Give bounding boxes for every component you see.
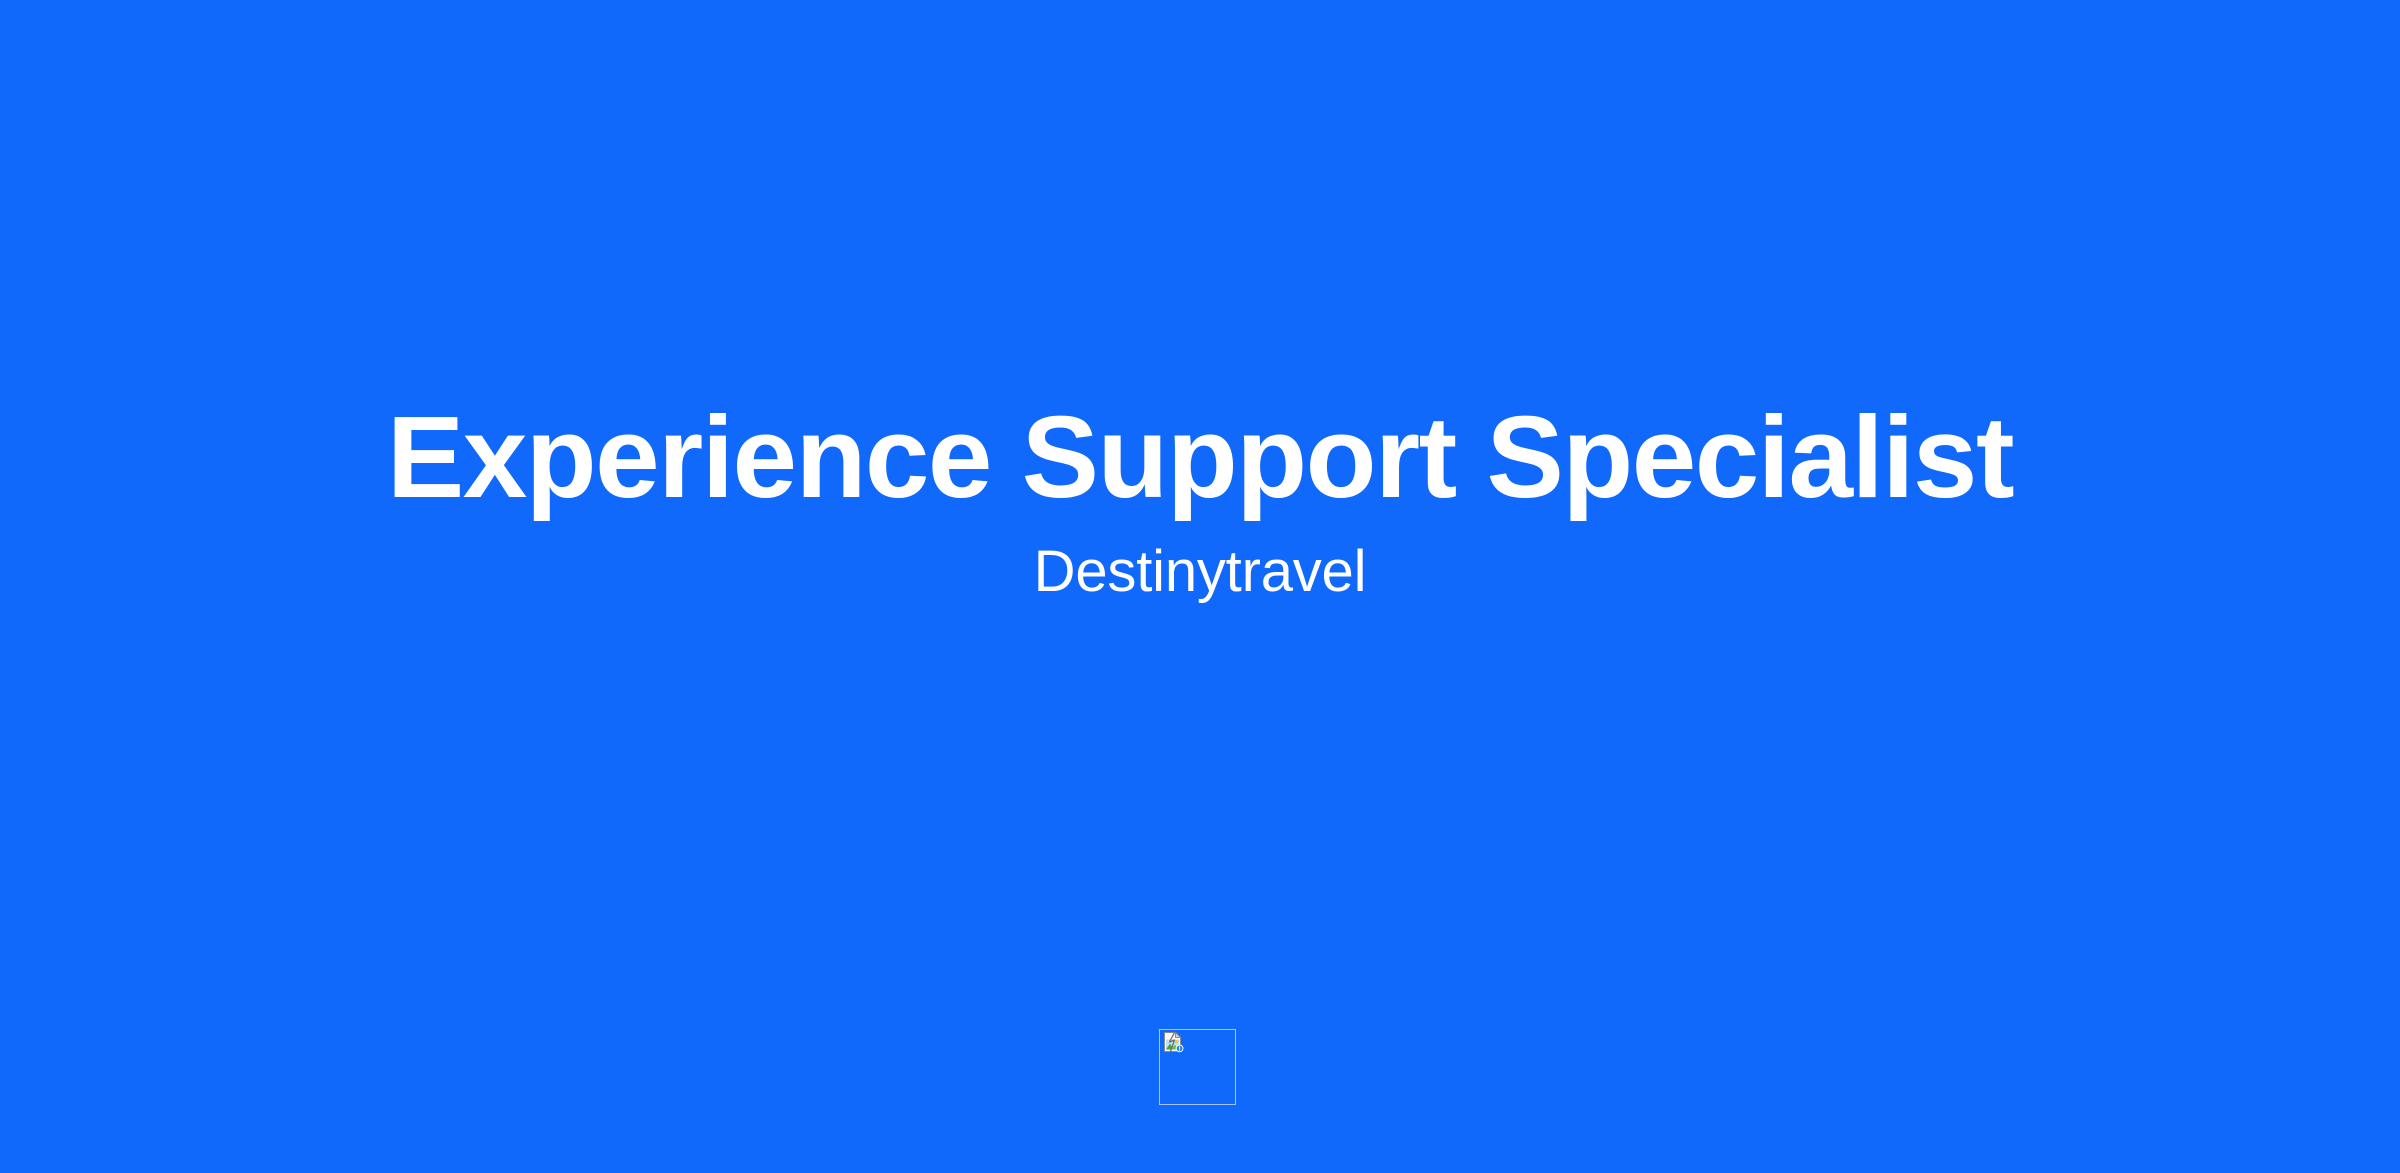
page-title: Experience Support Specialist xyxy=(0,396,2400,519)
headline-block: Experience Support Specialist Destinytra… xyxy=(0,0,2400,604)
broken-image-icon xyxy=(1162,1031,1184,1053)
company-logo-slot[interactable] xyxy=(1159,1029,1236,1105)
company-name: Destinytravel xyxy=(0,519,2400,604)
hero-banner: Experience Support Specialist Destinytra… xyxy=(0,0,2400,1173)
broken-image-placeholder[interactable] xyxy=(1159,1029,1236,1105)
